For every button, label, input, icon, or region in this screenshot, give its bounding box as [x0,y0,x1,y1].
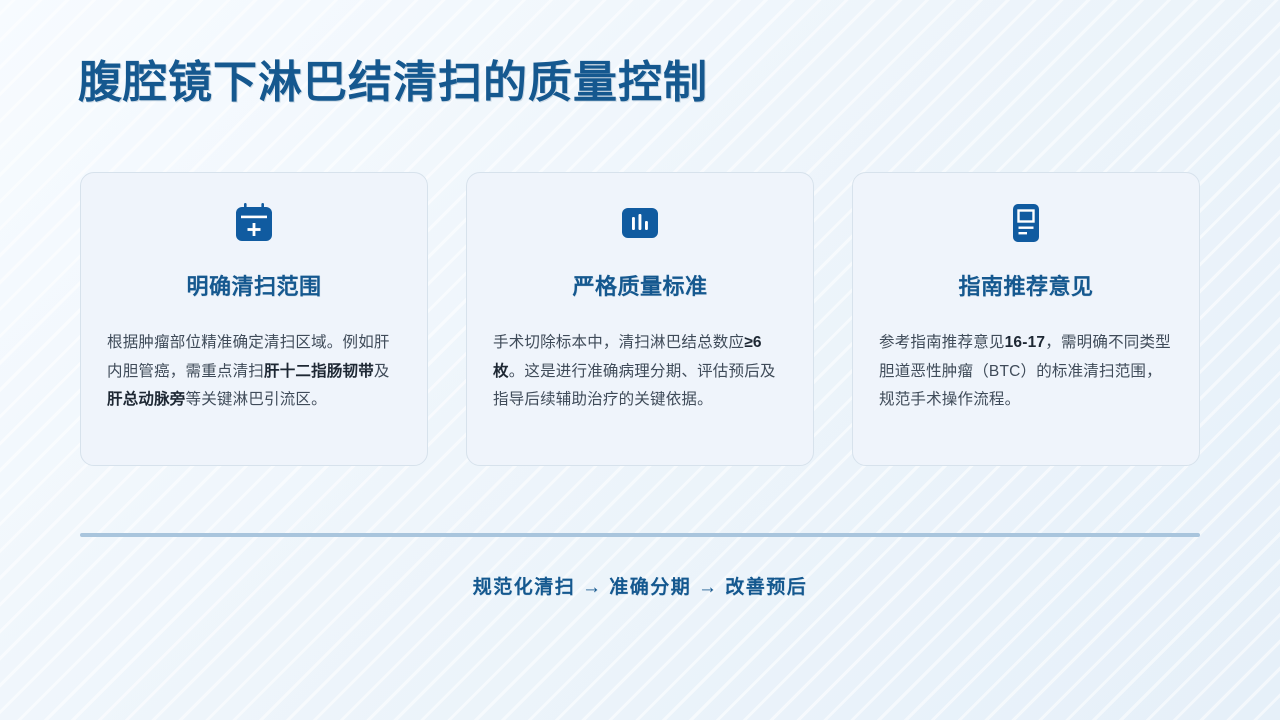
calendar-plus-icon [232,201,276,245]
card-body: 参考指南推荐意见16-17，需明确不同类型胆道恶性肿瘤（BTC）的标准清扫范围，… [879,329,1173,415]
footer: 规范化清扫 → 准确分期 → 改善预后 [0,572,1280,599]
card-title: 指南推荐意见 [958,269,1093,301]
title-block: 腹腔镜下淋巴结清扫的质量控制 [78,58,1198,109]
slide-canvas: 腹腔镜下淋巴结清扫的质量控制 明确清扫范围 根据肿瘤部位精准确定清扫区域。例如肝… [0,0,1280,720]
feature-card[interactable]: 明确清扫范围 根据肿瘤部位精准确定清扫区域。例如肝内胆管癌，需重点清扫肝十二指肠… [80,172,428,466]
feature-card[interactable]: 严格质量标准 手术切除标本中，清扫淋巴结总数应≥6枚。这是进行准确病理分期、评估… [466,172,814,466]
card-body: 根据肿瘤部位精准确定清扫区域。例如肝内胆管癌，需重点清扫肝十二指肠韧带及肝总动脉… [107,329,401,415]
page-title: 腹腔镜下淋巴结清扫的质量控制 [78,58,1198,109]
card-title: 明确清扫范围 [186,269,321,301]
card-body: 手术切除标本中，清扫淋巴结总数应≥6枚。这是进行准确病理分期、评估预后及指导后续… [493,329,787,415]
document-icon [1004,201,1048,245]
card-title: 严格质量标准 [572,269,707,301]
process-flow-text: 规范化清扫 → 准确分期 → 改善预后 [473,572,808,599]
bar-chart-icon [618,201,662,245]
feature-card[interactable]: 指南推荐意见 参考指南推荐意见16-17，需明确不同类型胆道恶性肿瘤（BTC）的… [852,172,1200,466]
section-divider [80,533,1200,537]
feature-card-row: 明确清扫范围 根据肿瘤部位精准确定清扫区域。例如肝内胆管癌，需重点清扫肝十二指肠… [80,172,1200,466]
